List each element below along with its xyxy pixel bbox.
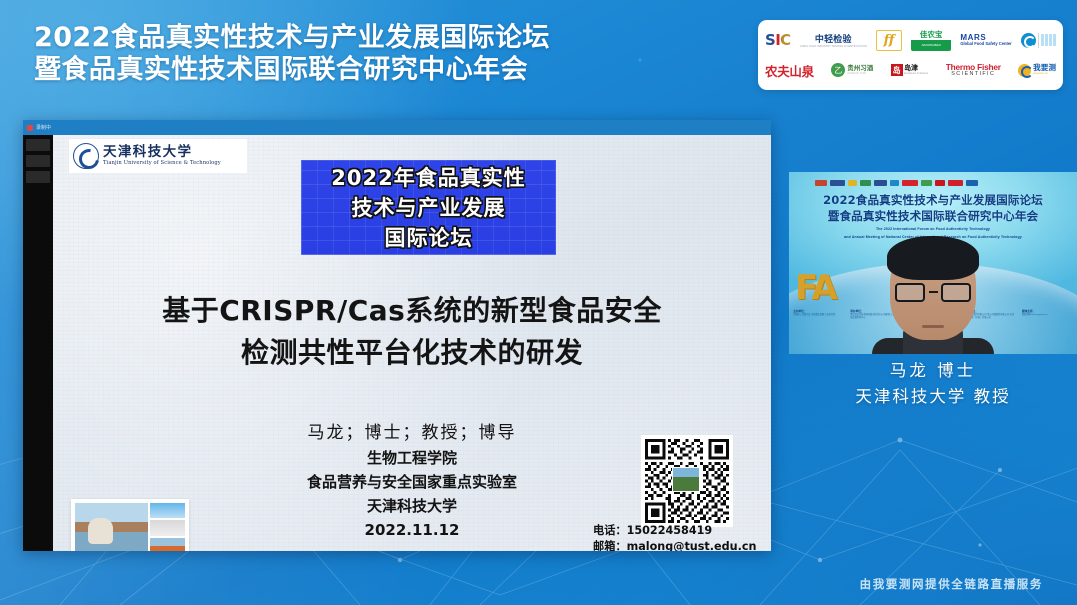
forum-banner-box: 2022年食品真实性 技术与产业发展 国际论坛	[301, 160, 556, 255]
presenter-caption-line-1: 马龙 博士	[789, 358, 1077, 384]
woyaoce-logo: 我要测 woyaoce.cn	[1018, 57, 1056, 84]
organizer-credit-block: 主办单位： 中国轻工业联合会 中国食品发酵工业研究院	[793, 310, 844, 320]
woyaoce-en: woyaoce.cn	[1033, 72, 1056, 75]
university-seal-icon	[73, 143, 99, 169]
screen-share-viewport[interactable]: 录制中 天津科技大学 Tianjin University of Science…	[23, 120, 771, 551]
university-name-en: Tianjin University of Science & Technolo…	[103, 160, 221, 167]
sponsor-logo-row-1: SIC 中轻检验 CHINA LIGHT INDUSTRY TESTING & …	[765, 27, 1056, 54]
nongfu-spring-logo: 农夫山泉	[765, 57, 814, 84]
campus-photo-main	[75, 503, 148, 551]
contact-email: 邮箱：malong@tust.edu.cn	[593, 539, 771, 551]
slide-thumbnail-rail[interactable]	[23, 135, 53, 551]
slide-thumbnail[interactable]	[26, 139, 50, 151]
mars-sub: Global Food Safety Center	[960, 42, 1011, 47]
shimadzu-mark: 岛	[891, 64, 903, 76]
cnas-circle-icon	[1021, 33, 1036, 48]
backdrop-sponsor-strip	[815, 180, 978, 186]
mars-global-food-safety-center-logo: MARS Global Food Safety Center	[960, 27, 1011, 54]
forum-banner-line-2: 技术与产业发展	[352, 193, 506, 223]
screen-share-topbar: 录制中	[23, 120, 771, 135]
sponsor-logo-panel: SIC 中轻检验 CHINA LIGHT INDUSTRY TESTING & …	[758, 20, 1063, 90]
slide-title-line-1: 基于CRISPR/Cas系统的新型食品安全	[53, 290, 771, 332]
thermo-fisher-sub: SCIENTIFIC	[946, 71, 1001, 77]
backdrop-title-line-2: 暨食品真实性技术国际联合研究中心年会	[789, 208, 1077, 224]
slide-title-line-2: 检测共性平台化技术的研发	[53, 332, 771, 374]
jiabao-en: JIANONGBAO	[911, 40, 951, 50]
recording-label: 录制中	[36, 124, 51, 131]
zhongqing-jianyan-en: CHINA LIGHT INDUSTRY TESTING & CERTIFICA…	[800, 45, 867, 48]
guizhou-xijiu-logo: 贵州习酒 GUIZHOU XIJIU	[831, 57, 873, 84]
event-title-line-2: 暨食品真实性技术国际联合研究中心年会	[34, 54, 728, 86]
presenter-caption-line-2: 天津科技大学 教授	[789, 384, 1077, 410]
backdrop-monogram: FA	[795, 268, 835, 308]
shimadzu-logo: 岛 岛津 Excellence in Science	[891, 57, 929, 84]
footer-note: 由我要测网提供全链路直播服务	[860, 577, 1043, 591]
slide-thumbnail[interactable]	[26, 171, 50, 183]
shimadzu-cn: 岛津	[904, 65, 928, 73]
campus-photo-collage: 天津科技大学	[71, 499, 189, 551]
zhongqing-jianyan-cn: 中轻检验	[800, 32, 867, 45]
recording-indicator-icon	[27, 125, 33, 131]
backdrop-title-line-1: 2022食品真实性技术与产业发展国际论坛	[789, 192, 1077, 208]
presenter-caption: 马龙 博士 天津科技大学 教授	[789, 358, 1077, 410]
slide-thumbnail[interactable]	[26, 155, 50, 167]
woyaoce-circle-icon	[1018, 64, 1031, 77]
live-stream-page: 2022食品真实性技术与产业发展国际论坛 暨食品真实性技术国际联合研究中心年会 …	[0, 0, 1077, 605]
forum-banner-line-1: 2022年食品真实性	[331, 163, 525, 193]
presenter-webcam-figure	[872, 242, 994, 354]
footer: 由我要测网提供全链路直播服务	[860, 575, 1043, 593]
jiabao-cn: 佳农宝	[911, 30, 951, 40]
cnas-logo	[1021, 27, 1056, 54]
forum-banner-line-3: 国际论坛	[385, 223, 473, 253]
ff-mark-logo: ff	[876, 27, 902, 54]
thermo-fisher-wordmark: Thermo Fisher	[946, 63, 1001, 72]
event-title-line-1: 2022食品真实性技术与产业发展国际论坛	[34, 22, 728, 54]
qr-code	[641, 435, 733, 527]
qr-center-image	[672, 467, 701, 492]
backdrop-subtitle-line-1: The 2022 International Forum on Food Aut…	[789, 227, 1077, 232]
presenter-glasses	[895, 282, 971, 302]
campus-photo-building	[150, 520, 185, 535]
contact-phone: 电话：15022458419	[593, 523, 771, 539]
event-title: 2022食品真实性技术与产业发展国际论坛 暨食品真实性技术国际联合研究中心年会	[34, 22, 714, 86]
sponsor-logo-row-2: 农夫山泉 贵州习酒 GUIZHOU XIJIU 岛 岛津 Excellence …	[765, 57, 1056, 84]
backdrop-title: 2022食品真实性技术与产业发展国际论坛 暨食品真实性技术国际联合研究中心年会 …	[789, 192, 1077, 241]
campus-photo-sky	[150, 503, 185, 518]
slide-contact-info: 电话：15022458419 邮箱：malong@tust.edu.cn	[593, 523, 771, 551]
shimadzu-en: Excellence in Science	[904, 72, 928, 75]
cnas-character-grid	[1041, 34, 1056, 45]
slide-title: 基于CRISPR/Cas系统的新型食品安全 检测共性平台化技术的研发	[53, 290, 771, 374]
xijiu-en: GUIZHOU XIJIU	[847, 72, 873, 75]
thermo-fisher-logo: Thermo Fisher SCIENTIFIC	[946, 57, 1001, 84]
organizer-credit-block: 媒体支持： 我要测网 www.woyaoce.cn	[1022, 310, 1073, 320]
university-logo: 天津科技大学 Tianjin University of Science & T…	[69, 139, 247, 173]
university-name-cn: 天津科技大学	[103, 145, 221, 160]
presentation-slide: 天津科技大学 Tianjin University of Science & T…	[53, 135, 771, 551]
presenter-video-tile[interactable]: 2022食品真实性技术与产业发展国际论坛 暨食品真实性技术国际联合研究中心年会 …	[789, 172, 1077, 354]
qr-code-pattern	[645, 439, 729, 523]
jiabao-logo: 佳农宝 JIANONGBAO	[911, 27, 951, 54]
xijiu-circle-icon	[831, 63, 845, 77]
xijiu-cn: 贵州习酒	[847, 65, 873, 72]
zhongqing-jianyan-logo: 中轻检验 CHINA LIGHT INDUSTRY TESTING & CERT…	[800, 27, 867, 54]
campus-photo-boat	[150, 538, 185, 551]
sic-logo: SIC	[765, 27, 791, 54]
